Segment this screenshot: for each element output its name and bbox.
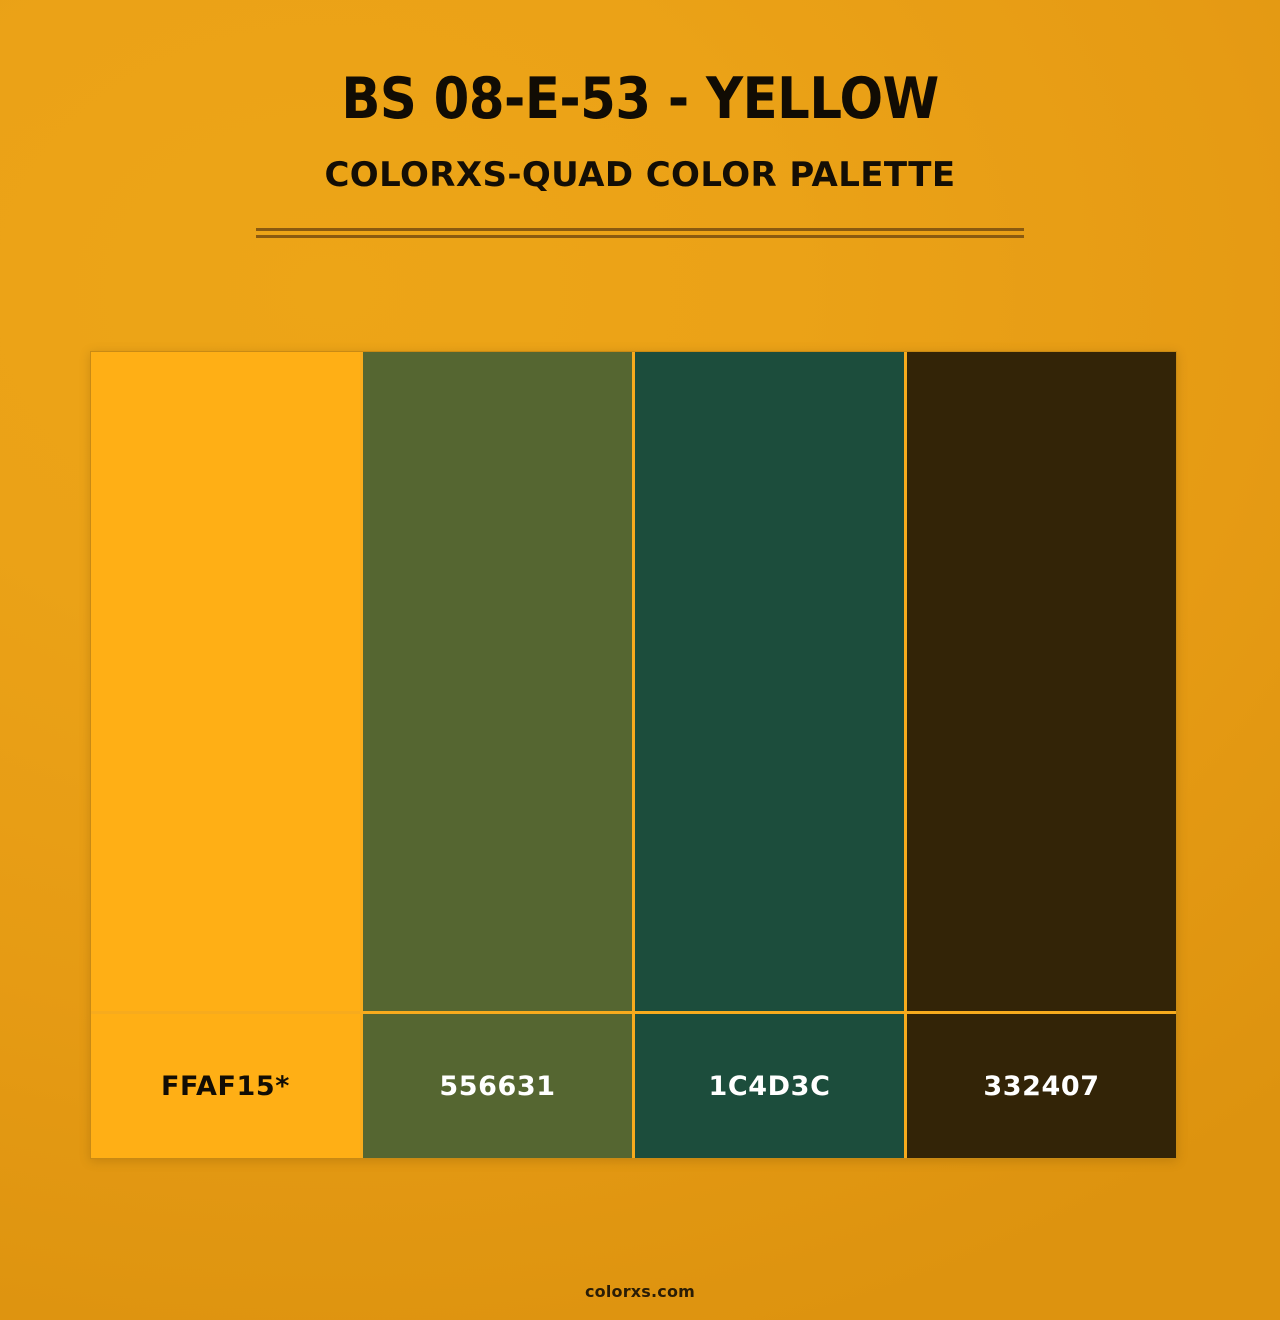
swatch-label-cell-2[interactable]: 556631: [360, 1014, 632, 1158]
footer-site-label: colorxs.com: [585, 1282, 695, 1301]
page-subtitle: COLORXS-QUAD COLOR PALETTE: [0, 130, 1280, 194]
page-title: BS 08-E-53 - YELLOW: [0, 0, 1280, 130]
swatch-color-row: [91, 352, 1176, 1011]
swatch-block-3[interactable]: [632, 352, 904, 1011]
swatch-label-cell-1[interactable]: FFAF15*: [91, 1014, 360, 1158]
swatch-block-2[interactable]: [360, 352, 632, 1011]
swatch-hex-label-2: 556631: [439, 1071, 555, 1102]
swatch-label-cell-3[interactable]: 1C4D3C: [632, 1014, 904, 1158]
page-header: BS 08-E-53 - YELLOW COLORXS-QUAD COLOR P…: [0, 0, 1280, 194]
palette-card: FFAF15* 556631 1C4D3C 332407: [90, 351, 1177, 1159]
swatch-hex-label-3: 1C4D3C: [708, 1071, 830, 1102]
swatch-hex-label-4: 332407: [983, 1071, 1099, 1102]
swatch-block-1[interactable]: [91, 352, 360, 1011]
swatch-hex-label-1: FFAF15*: [161, 1071, 290, 1102]
divider-line-bottom: [256, 235, 1024, 238]
swatch-label-cell-4[interactable]: 332407: [904, 1014, 1176, 1158]
divider-line-top: [256, 228, 1024, 231]
swatch-label-row: FFAF15* 556631 1C4D3C 332407: [91, 1011, 1176, 1158]
palette-page: BS 08-E-53 - YELLOW COLORXS-QUAD COLOR P…: [0, 0, 1280, 1320]
header-divider: [256, 228, 1024, 238]
swatch-block-4[interactable]: [904, 352, 1176, 1011]
footer: colorxs.com: [0, 1282, 1280, 1301]
